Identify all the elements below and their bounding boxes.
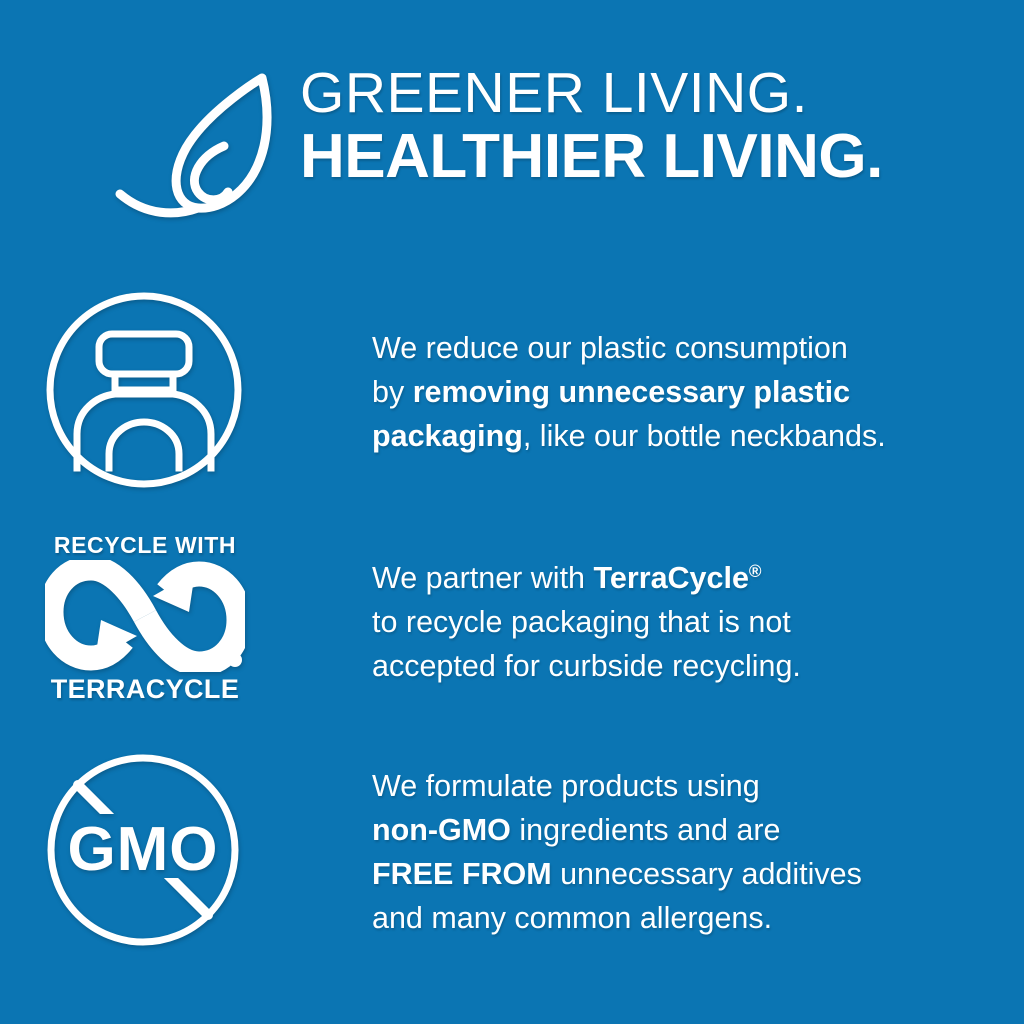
feature-row-gmo: GMO We formulate products usingnon-GMO i… — [0, 752, 1024, 952]
icon-cell-terracycle: RECYCLE WITH TERRACYCL — [0, 532, 290, 710]
header: GREENER LIVING. HEALTHIER LIVING. — [0, 62, 1024, 232]
no-gmo-icon: GMO — [45, 752, 245, 952]
text-cell-plastic: We reduce our plastic consumptionby remo… — [290, 286, 1024, 458]
text-line: and many common allergens. — [372, 901, 772, 935]
terracycle-bottom-label: TERRACYCLE — [45, 674, 245, 704]
svg-text:GMO: GMO — [67, 815, 218, 884]
terracycle-logo: RECYCLE WITH TERRACYCL — [45, 532, 245, 710]
text-line: FREE FROM unnecessary additives — [372, 857, 862, 891]
text-line: We formulate products using — [372, 769, 760, 803]
greener-living-infographic: GREENER LIVING. HEALTHIER LIVING. We red… — [0, 0, 1024, 1024]
bottle-neckband-icon — [45, 286, 245, 496]
text-line: to recycle packaging that is not — [372, 605, 791, 639]
feature-row-plastic: We reduce our plastic consumptionby remo… — [0, 286, 1024, 496]
feature-row-terracycle: RECYCLE WITH TERRACYCL — [0, 532, 1024, 717]
headline-line-2: HEALTHIER LIVING. — [300, 124, 1000, 190]
text-line: packaging, like our bottle neckbands. — [372, 419, 886, 453]
text-line: accepted for curbside recycling. — [372, 649, 801, 683]
text-line: by removing unnecessary plastic — [372, 375, 850, 409]
headline-block: GREENER LIVING. HEALTHIER LIVING. — [300, 62, 1000, 190]
feature-text-terracycle: We partner with TerraCycle®to recycle pa… — [372, 532, 1000, 688]
icon-cell-gmo: GMO — [0, 752, 290, 952]
text-line: We partner with TerraCycle® — [372, 561, 762, 595]
icon-cell-plastic — [0, 286, 290, 496]
text-line: non-GMO ingredients and are — [372, 813, 781, 847]
feature-text-plastic: We reduce our plastic consumptionby remo… — [372, 286, 1000, 458]
terracycle-top-label: RECYCLE WITH — [45, 532, 245, 558]
leaf-icon — [112, 70, 288, 230]
text-cell-terracycle: We partner with TerraCycle®to recycle pa… — [290, 532, 1024, 688]
text-line: We reduce our plastic consumption — [372, 331, 848, 365]
headline-line-1: GREENER LIVING. — [300, 62, 1000, 124]
feature-text-gmo: We formulate products usingnon-GMO ingre… — [372, 752, 1000, 940]
infinity-recycle-arrows-icon — [45, 560, 245, 672]
text-cell-gmo: We formulate products usingnon-GMO ingre… — [290, 752, 1024, 940]
